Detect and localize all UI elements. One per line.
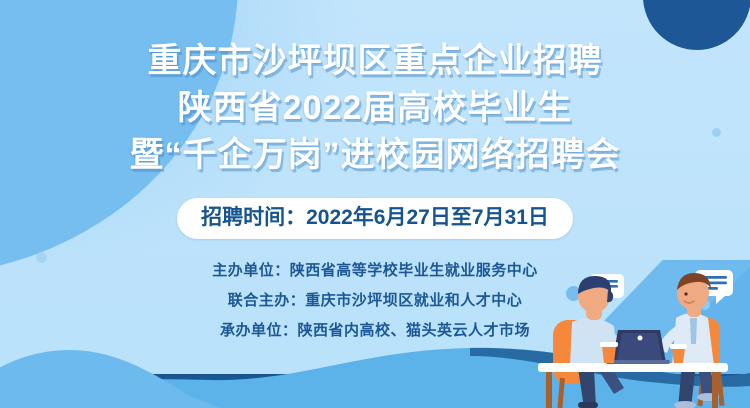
headline-line-3: 暨“千企万岗”进校园网络招聘会	[0, 132, 750, 179]
recruitment-banner: 重庆市沙坪坝区重点企业招聘 陕西省2022届高校毕业生 暨“千企万岗”进校园网络…	[0, 0, 750, 408]
headline-block: 重庆市沙坪坝区重点企业招聘 陕西省2022届高校毕业生 暨“千企万岗”进校园网络…	[0, 38, 750, 179]
bottom-left-hill-decoration	[0, 344, 220, 408]
headline-line-2: 陕西省2022届高校毕业生	[0, 85, 750, 132]
headline-line-1: 重庆市沙坪坝区重点企业招聘	[0, 38, 750, 85]
date-badge-wrapper: 招聘时间：2022年6月27日至7月31日	[0, 198, 750, 239]
job-interview-illustration	[520, 260, 750, 408]
recruitment-period-badge: 招聘时间：2022年6月27日至7月31日	[177, 198, 573, 239]
